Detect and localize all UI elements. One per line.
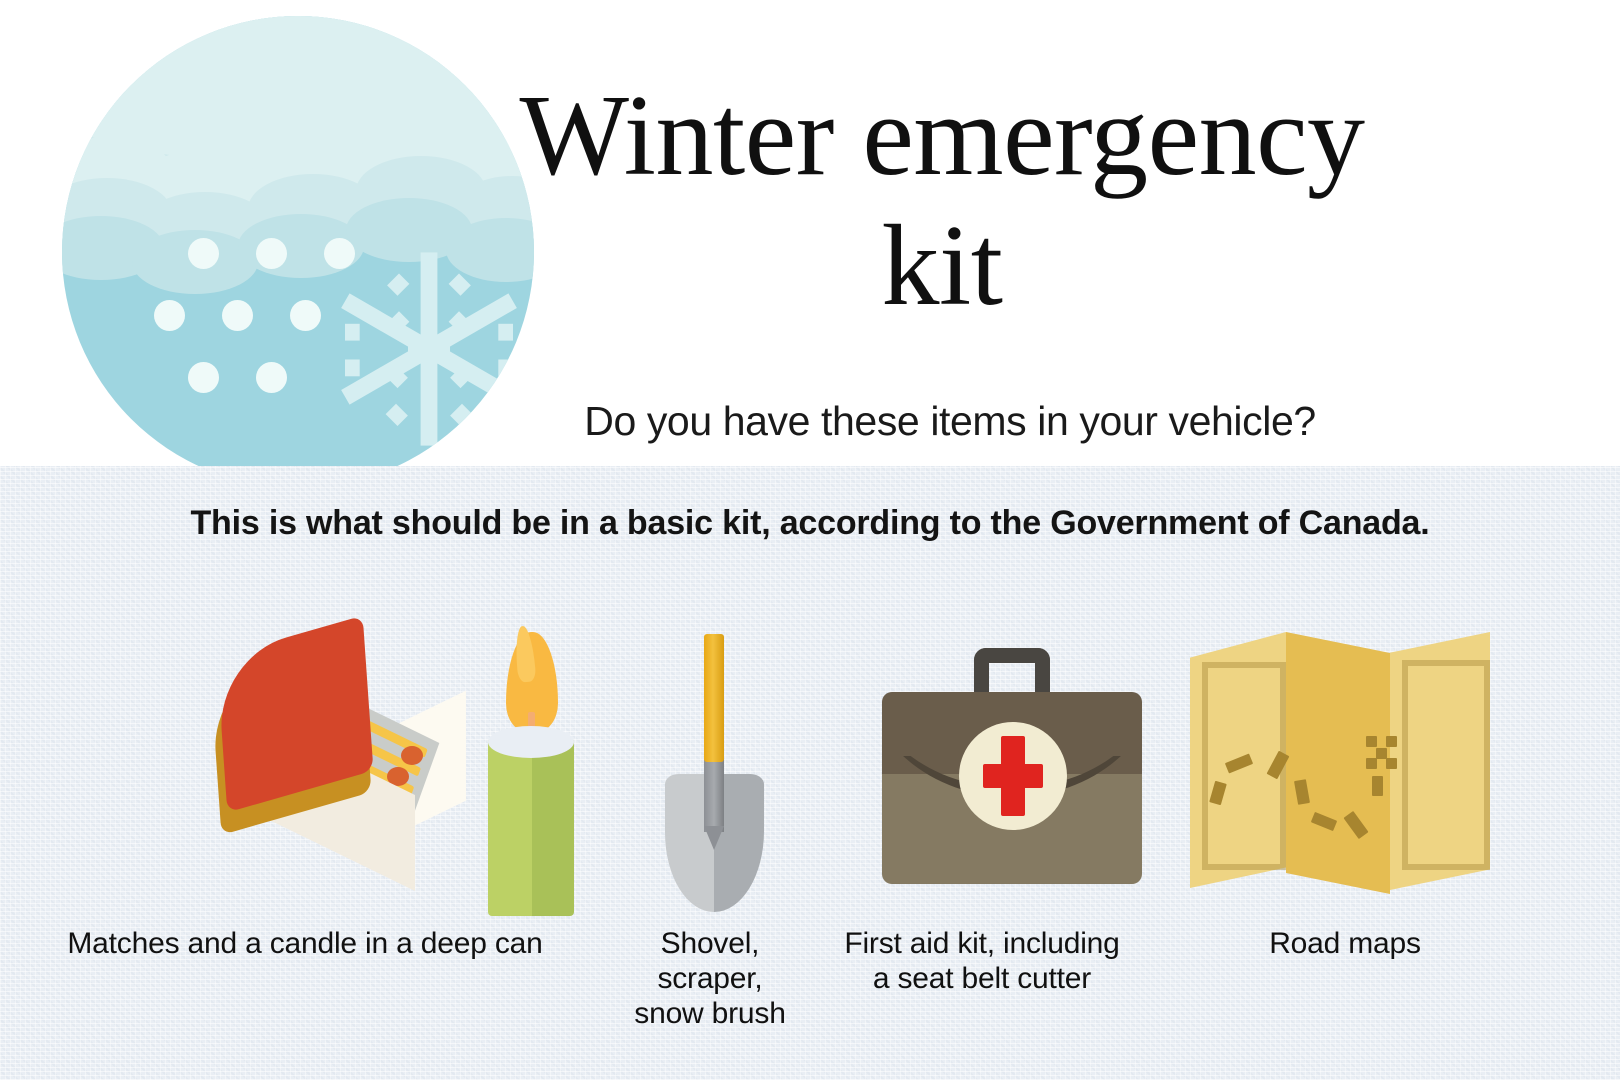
shovel-icon bbox=[600, 626, 820, 916]
kit-items-row: Matches and a candle in a deep can bbox=[0, 626, 1620, 1066]
red-cross-icon bbox=[983, 764, 1043, 788]
road-map-icon bbox=[1160, 626, 1530, 916]
snow-dot bbox=[290, 300, 321, 331]
map-border-right bbox=[1402, 660, 1490, 870]
map-city-block bbox=[1366, 736, 1377, 747]
map-city-block bbox=[1366, 758, 1377, 769]
infographic-poster: Winter emergency kit Do you have these i… bbox=[0, 0, 1620, 1080]
road-map-art bbox=[1190, 632, 1490, 912]
page-title: Winter emergency kit bbox=[352, 72, 1532, 332]
first-aid-kit-icon bbox=[812, 626, 1152, 916]
candle-body-left bbox=[488, 738, 532, 916]
snow-dot bbox=[256, 362, 287, 393]
page-subtitle: Do you have these items in your vehicle? bbox=[360, 398, 1540, 445]
header-band: Winter emergency kit Do you have these i… bbox=[0, 0, 1620, 466]
kit-item-label-road-maps: Road maps bbox=[1160, 916, 1530, 961]
map-city-block bbox=[1386, 736, 1397, 747]
shovel-handle bbox=[704, 634, 724, 762]
page-title-line-2: kit bbox=[352, 202, 1532, 332]
candle-art bbox=[470, 626, 600, 916]
kit-item-shovel: Shovel, scraper, snow brush bbox=[600, 626, 820, 1031]
shovel-art bbox=[660, 626, 770, 916]
kit-item-label-shovel: Shovel, scraper, snow brush bbox=[600, 916, 820, 1031]
kit-item-label-first-aid: First aid kit, including a seat belt cut… bbox=[812, 916, 1152, 996]
content-band: This is what should be in a basic kit, a… bbox=[0, 466, 1620, 1080]
candle-body-right bbox=[532, 738, 574, 916]
map-city-block bbox=[1386, 758, 1397, 769]
lede-text: This is what should be in a basic kit, a… bbox=[0, 504, 1620, 543]
page-title-line-1: Winter emergency bbox=[352, 72, 1532, 202]
snow-dot bbox=[222, 300, 253, 331]
first-aid-art bbox=[882, 648, 1142, 908]
map-route-dash bbox=[1372, 776, 1383, 796]
snow-dot bbox=[188, 238, 219, 269]
snow-dot bbox=[188, 362, 219, 393]
snow-dot bbox=[256, 238, 287, 269]
kit-item-road-maps: Road maps bbox=[1160, 626, 1530, 961]
snow-dot bbox=[154, 300, 185, 331]
kit-item-first-aid: First aid kit, including a seat belt cut… bbox=[812, 626, 1152, 996]
candle-top-dip bbox=[488, 726, 574, 758]
shovel-neck bbox=[704, 758, 724, 832]
